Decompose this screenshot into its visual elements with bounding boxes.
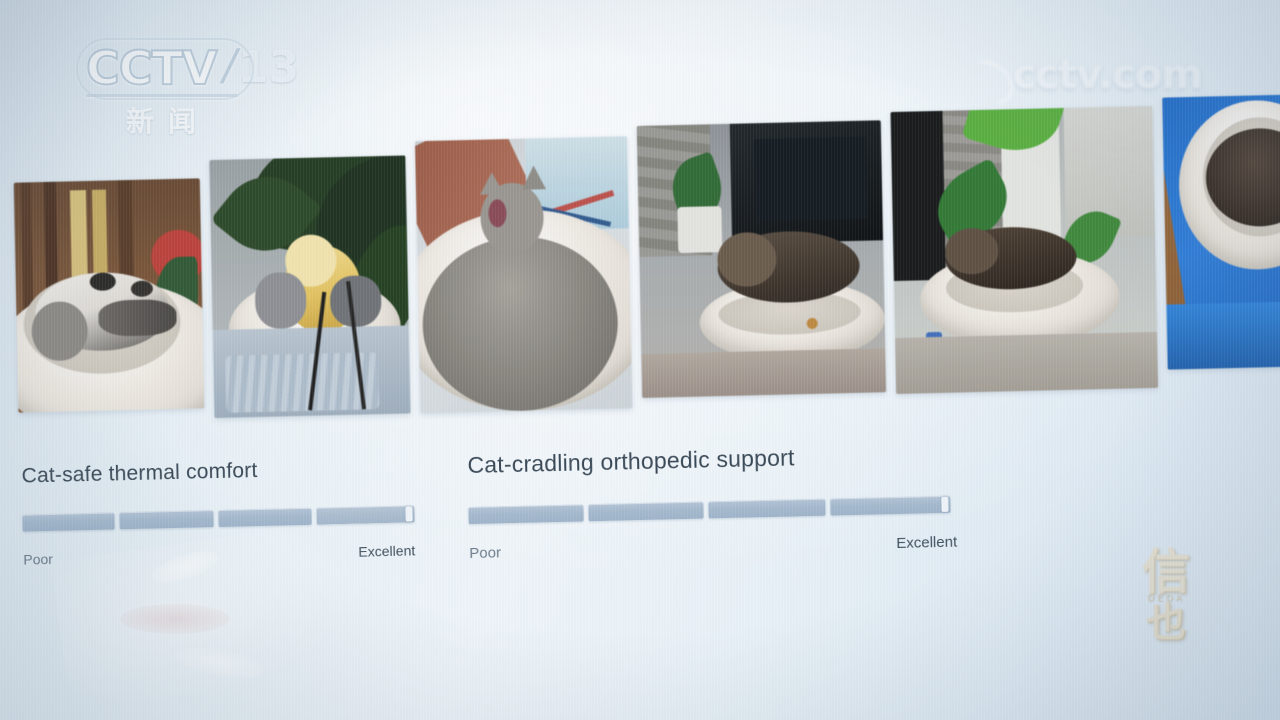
rating-segment[interactable]: [588, 502, 703, 522]
scale-label-low: Poor: [23, 551, 53, 568]
gallery-photo[interactable]: [1162, 94, 1280, 369]
rating-segment[interactable]: [830, 496, 950, 516]
rating-segment[interactable]: [218, 508, 312, 527]
rating-title: Cat-safe thermal comfort: [21, 455, 413, 488]
gallery-photo[interactable]: [415, 136, 632, 413]
channel-logo-row: CCTV / 13: [86, 44, 299, 92]
trust-badge-glyph-secondary: 也: [1120, 603, 1212, 643]
ratings-section: Cat-safe thermal comfort Poor Excellent …: [3, 421, 1280, 451]
broadcast-frame: Cat-safe thermal comfort Poor Excellent …: [0, 0, 1280, 720]
scale-label-high: Excellent: [358, 542, 415, 559]
channel-number: 13: [238, 46, 299, 90]
scale-label-low: Poor: [469, 544, 501, 562]
gallery-photo[interactable]: [891, 106, 1159, 394]
cat-bed-photo-gallery: [13, 110, 1280, 423]
rating-segment[interactable]: [708, 499, 825, 519]
rating-segment[interactable]: [119, 510, 213, 529]
gallery-photo[interactable]: [209, 155, 410, 418]
rating-thermal-comfort: Cat-safe thermal comfort Poor Excellent: [21, 455, 415, 567]
rating-scale-labels: Poor Excellent: [23, 542, 415, 567]
gallery-photo[interactable]: [14, 178, 205, 412]
rating-orthopedic-support: Cat-cradling orthopedic support Poor Exc…: [467, 441, 957, 562]
trust-badge-glyph: 信: [1120, 550, 1212, 596]
trust-badge-watermark: 信 DEDA 也: [1120, 550, 1212, 650]
channel-logo: CCTV / 13 新闻: [86, 44, 299, 140]
channel-name: CCTV: [86, 45, 217, 91]
rating-slider[interactable]: [22, 505, 414, 531]
rating-slider[interactable]: [468, 496, 956, 524]
site-watermark-text: cctv.com: [1013, 52, 1202, 98]
rating-segment[interactable]: [468, 504, 583, 524]
rating-title: Cat-cradling orthopedic support: [467, 441, 955, 479]
scale-label-high: Excellent: [896, 534, 957, 552]
rating-scale-labels: Poor Excellent: [469, 534, 957, 562]
gallery-photo[interactable]: [637, 120, 886, 398]
site-watermark: cctv.com: [975, 52, 1202, 98]
rating-segment[interactable]: [317, 505, 415, 524]
rating-segment[interactable]: [22, 512, 114, 531]
channel-subtitle: 新闻: [86, 100, 238, 140]
